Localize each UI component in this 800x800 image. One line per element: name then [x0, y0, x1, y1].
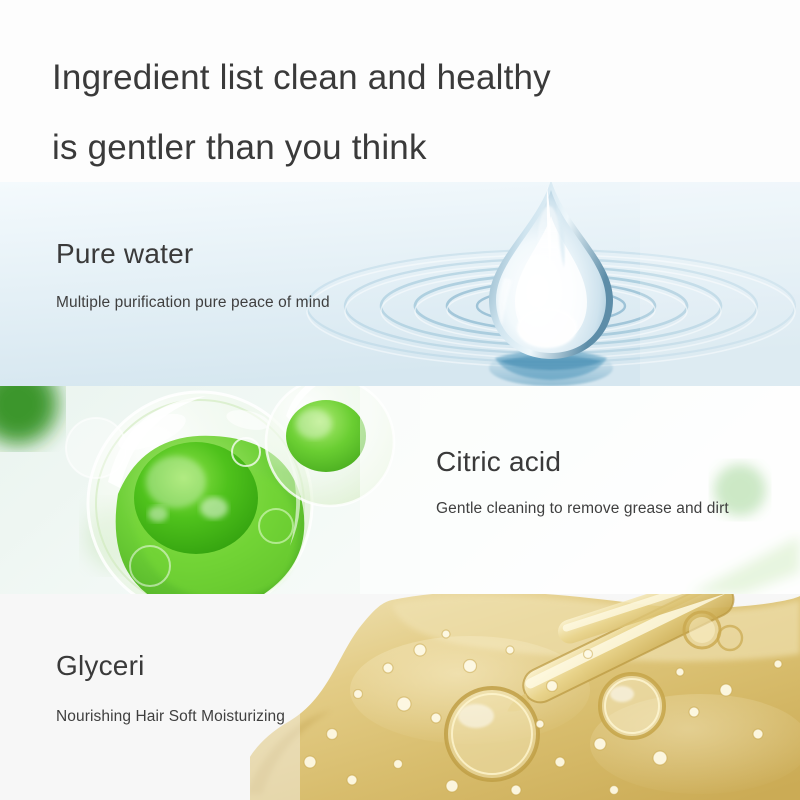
- panel-pure-water: Pure water Multiple purification pure pe…: [0, 182, 800, 386]
- panel-subtitle-citric-acid: Gentle cleaning to remove grease and dir…: [436, 500, 729, 518]
- header-block: Ingredient list clean and healthy is gen…: [0, 0, 800, 182]
- panel-title-citric-acid: Citric acid: [436, 446, 729, 478]
- panel-title-pure-water: Pure water: [56, 238, 330, 270]
- panel-subtitle-pure-water: Multiple purification pure peace of mind: [56, 294, 330, 312]
- panel-citric-acid-text: Citric acid Gentle cleaning to remove gr…: [436, 446, 729, 518]
- panel-glycerin: Glyceri Nourishing Hair Soft Moisturizin…: [0, 594, 800, 800]
- panel-pure-water-text: Pure water Multiple purification pure pe…: [56, 238, 330, 312]
- headline-line-1: Ingredient list clean and healthy: [52, 58, 551, 98]
- ingredient-infographic: Ingredient list clean and healthy is gen…: [0, 0, 800, 800]
- headline-line-2: is gentler than you think: [52, 128, 427, 168]
- panel-citric-acid: Citric acid Gentle cleaning to remove gr…: [0, 386, 800, 594]
- panel-subtitle-glycerin: Nourishing Hair Soft Moisturizing: [56, 708, 285, 726]
- panel-title-glycerin: Glyceri: [56, 650, 285, 682]
- panel-glycerin-text: Glyceri Nourishing Hair Soft Moisturizin…: [56, 650, 285, 726]
